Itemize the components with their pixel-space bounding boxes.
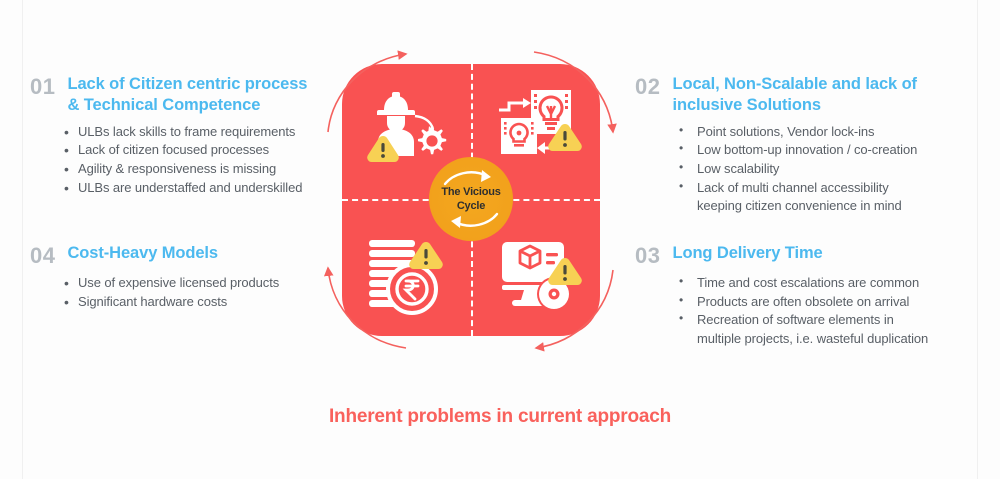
center-cycle-line2: Cycle xyxy=(457,200,485,212)
block-03-number: 03 xyxy=(635,243,660,268)
problem-block-01: 01 Lack of Citizen centric process & Tec… xyxy=(30,74,360,197)
block-04-title: Cost-Heavy Models xyxy=(67,243,218,264)
block-02-title-line2: inclusive Solutions xyxy=(672,96,820,114)
block-01-title: Lack of Citizen centric process & Techni… xyxy=(67,74,307,117)
list-item: Lack of citizen focused processes xyxy=(62,141,360,160)
center-cycle-line1: The Vicious xyxy=(441,186,500,198)
block-04-bullets: Use of expensive licensed products Signi… xyxy=(62,274,360,311)
block-02-header: 02 Local, Non-Scalable and lack of inclu… xyxy=(635,74,980,117)
monitor-package-disc-icon xyxy=(498,238,588,316)
block-02-bullets: Point solutions, Vendor lock-ins Low bot… xyxy=(677,123,980,216)
block-01-bullets: ULBs lack skills to frame requirements L… xyxy=(62,123,360,197)
worker-hardhat-gear-icon xyxy=(365,86,451,166)
center-cycle-badge: The Vicious Cycle xyxy=(429,157,513,241)
block-03-bullets: Time and cost escalations are common Pro… xyxy=(677,274,980,348)
problem-block-03: 03 Long Delivery Time Time and cost esca… xyxy=(635,243,980,349)
list-item: Products are often obsolete on arrival xyxy=(677,293,980,312)
list-item: Agility & responsiveness is missing xyxy=(62,160,360,179)
block-01-number: 01 xyxy=(30,74,55,99)
list-item: Low bottom-up innovation / co-creation xyxy=(677,141,980,160)
list-item: Lack of multi channel accessibility xyxy=(677,179,980,198)
block-03-title: Long Delivery Time xyxy=(672,243,822,264)
block-01-header: 01 Lack of Citizen centric process & Tec… xyxy=(30,74,360,117)
list-item: ULBs lack skills to frame requirements xyxy=(62,123,360,142)
block-01-title-line2: & Technical Competence xyxy=(67,96,260,114)
list-item: Recreation of software elements in xyxy=(677,311,980,330)
list-item-continuation: keeping citizen convenience in mind xyxy=(677,197,980,216)
coin-stack-rupee-icon xyxy=(365,234,453,318)
block-02-number: 02 xyxy=(635,74,660,99)
page-title: Inherent problems in current approach xyxy=(0,406,1000,428)
block-03-header: 03 Long Delivery Time xyxy=(635,243,980,268)
problem-block-02: 02 Local, Non-Scalable and lack of inclu… xyxy=(635,74,980,216)
list-item-continuation: multiple projects, i.e. wasteful duplica… xyxy=(677,330,980,349)
list-item: Low scalability xyxy=(677,160,980,179)
list-item: Use of expensive licensed products xyxy=(62,274,360,293)
problem-block-04: 04 Cost-Heavy Models Use of expensive li… xyxy=(30,243,360,311)
list-item: Point solutions, Vendor lock-ins xyxy=(677,123,980,142)
block-02-title-line1: Local, Non-Scalable and lack of xyxy=(672,75,916,93)
block-04-number: 04 xyxy=(30,243,55,268)
lightbulb-cards-arrows-icon xyxy=(495,86,587,166)
list-item: Significant hardware costs xyxy=(62,293,360,312)
vicious-cycle-graphic: The Vicious Cycle xyxy=(320,46,620,354)
block-04-header: 04 Cost-Heavy Models xyxy=(30,243,360,268)
list-item: ULBs are understaffed and underskilled xyxy=(62,179,360,198)
block-01-title-line1: Lack of Citizen centric process xyxy=(67,75,307,93)
list-item: Time and cost escalations are common xyxy=(677,274,980,293)
center-cycle-label: The Vicious Cycle xyxy=(441,185,500,214)
block-02-title: Local, Non-Scalable and lack of inclusiv… xyxy=(672,74,916,117)
slide-canvas: 01 Lack of Citizen centric process & Tec… xyxy=(0,0,1000,479)
